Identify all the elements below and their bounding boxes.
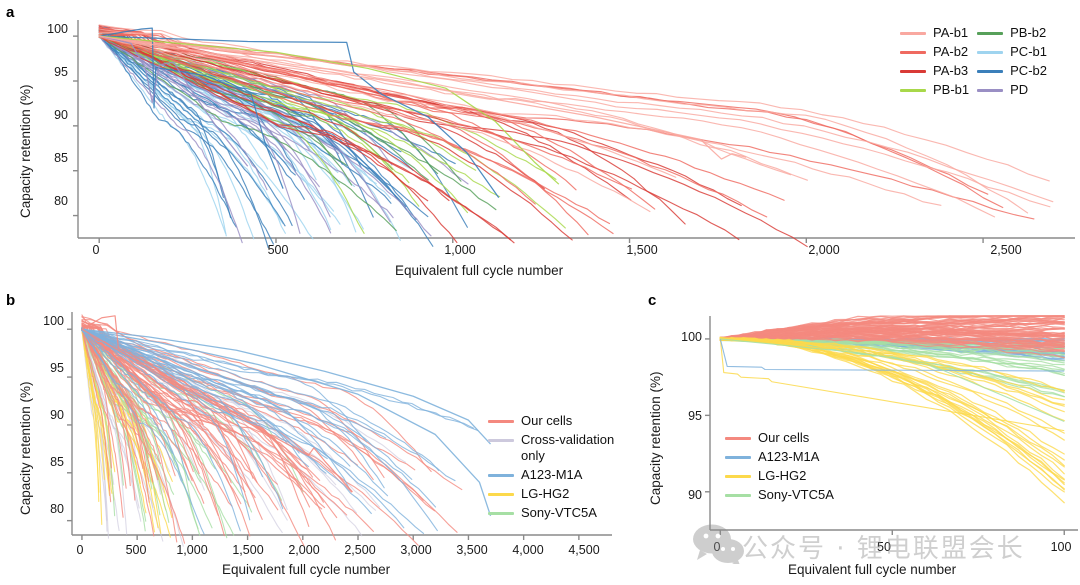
- legend-swatch-our-cells: [725, 437, 751, 440]
- legend-swatch-sony-vtc5a: [488, 512, 514, 515]
- panel-b-legend: Our cellsCross-validation onlyA123-M1ALG…: [488, 413, 614, 524]
- legend-item[interactable]: PC-b2: [977, 63, 1047, 79]
- legend-swatch-pa-b1: [900, 32, 926, 35]
- legend-swatch-pc-b1: [977, 51, 1003, 54]
- legend-label: Our cells: [521, 413, 572, 429]
- legend-item[interactable]: Our cells: [725, 430, 834, 446]
- legend-swatch-pa-b3: [900, 70, 926, 73]
- figure-root: a Capacity retention (%) Equivalent full…: [0, 0, 1080, 585]
- legend-label: PA-b1: [933, 25, 968, 41]
- legend-item[interactable]: Sony-VTC5A: [488, 505, 614, 521]
- panel-c: c Capacity retention (%) Equivalent full…: [620, 290, 1080, 585]
- legend-label: PD: [1010, 82, 1028, 98]
- legend-label: PB-b1: [933, 82, 969, 98]
- legend-item[interactable]: PA-b2: [900, 44, 969, 60]
- legend-swatch-our-cells: [488, 420, 514, 423]
- legend-item[interactable]: A123-M1A: [488, 467, 614, 483]
- legend-label: Our cells: [758, 430, 809, 446]
- legend-item[interactable]: PB-b1: [900, 82, 969, 98]
- legend-swatch-a123-m1a: [725, 456, 751, 459]
- panel-a-legend-column-1: PA-b1PA-b2PA-b3PB-b1: [900, 25, 969, 101]
- legend-swatch-pb-b2: [977, 32, 1003, 35]
- legend-swatch-pd: [977, 89, 1003, 92]
- panel-b: b Capacity retention (%) Equivalent full…: [0, 290, 620, 585]
- legend-label: PA-b2: [933, 44, 968, 60]
- legend-swatch-lg-hg2: [488, 493, 514, 496]
- legend-item[interactable]: PC-b1: [977, 44, 1047, 60]
- legend-label: PA-b3: [933, 63, 968, 79]
- legend-swatch-lg-hg2: [725, 475, 751, 478]
- legend-label: A123-M1A: [521, 467, 582, 483]
- legend-item[interactable]: LG-HG2: [725, 468, 834, 484]
- legend-label: Cross-validation only: [521, 432, 614, 464]
- legend-label: A123-M1A: [758, 449, 819, 465]
- legend-item[interactable]: Cross-validation only: [488, 432, 614, 464]
- legend-item[interactable]: PA-b1: [900, 25, 969, 41]
- legend-swatch-pc-b2: [977, 70, 1003, 73]
- legend-label: PC-b1: [1010, 44, 1047, 60]
- legend-swatch-pa-b2: [900, 51, 926, 54]
- legend-item[interactable]: PA-b3: [900, 63, 969, 79]
- legend-label: LG-HG2: [521, 486, 569, 502]
- legend-swatch-cross-validation-only: [488, 439, 514, 442]
- legend-item[interactable]: Sony-VTC5A: [725, 487, 834, 503]
- legend-item[interactable]: PD: [977, 82, 1047, 98]
- legend-label: Sony-VTC5A: [521, 505, 597, 521]
- legend-label: LG-HG2: [758, 468, 806, 484]
- legend-item[interactable]: Our cells: [488, 413, 614, 429]
- legend-item[interactable]: A123-M1A: [725, 449, 834, 465]
- legend-swatch-pb-b1: [900, 89, 926, 92]
- panel-a: a Capacity retention (%) Equivalent full…: [0, 0, 1080, 290]
- legend-label: Sony-VTC5A: [758, 487, 834, 503]
- legend-label: PC-b2: [1010, 63, 1047, 79]
- legend-swatch-a123-m1a: [488, 474, 514, 477]
- panel-c-plot: [620, 290, 1080, 585]
- legend-item[interactable]: LG-HG2: [488, 486, 614, 502]
- panel-a-legend-column-2: PB-b2PC-b1PC-b2PD: [977, 25, 1047, 101]
- legend-swatch-sony-vtc5a: [725, 494, 751, 497]
- legend-label: PB-b2: [1010, 25, 1046, 41]
- panel-a-legend: PA-b1PA-b2PA-b3PB-b1 PB-b2PC-b1PC-b2PD: [900, 25, 1047, 101]
- panel-c-legend: Our cellsA123-M1ALG-HG2Sony-VTC5A: [725, 430, 834, 506]
- legend-item[interactable]: PB-b2: [977, 25, 1047, 41]
